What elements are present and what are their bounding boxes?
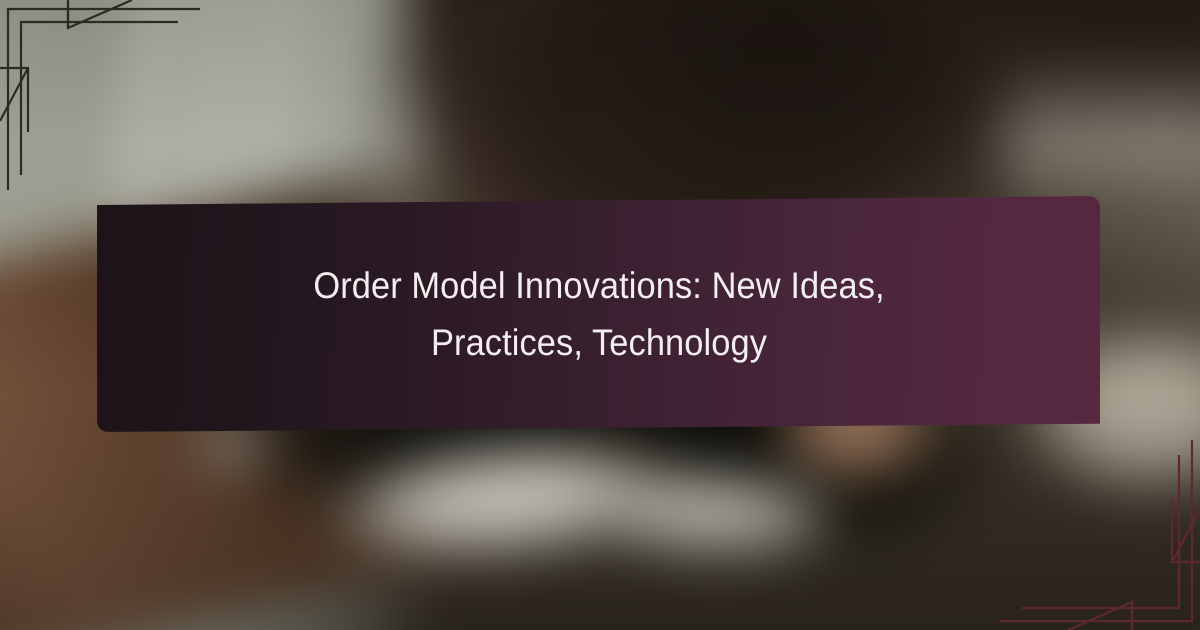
title-banner-content: Order Model Innovations: New Ideas, Prac… bbox=[97, 196, 1100, 432]
title-banner: Order Model Innovations: New Ideas, Prac… bbox=[97, 196, 1100, 432]
page-title: Order Model Innovations: New Ideas, Prac… bbox=[236, 257, 961, 372]
social-card: Order Model Innovations: New Ideas, Prac… bbox=[0, 0, 1200, 630]
